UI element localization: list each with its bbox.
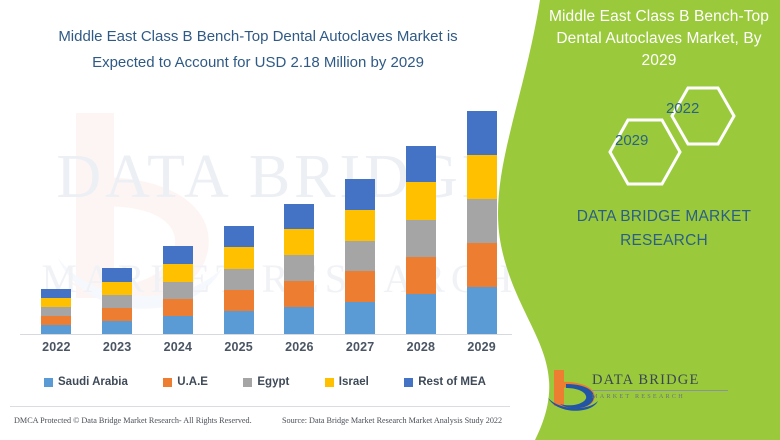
hexagon-2029-outline bbox=[610, 120, 680, 184]
footer-copyright: DMCA Protected © Data Bridge Market Rese… bbox=[14, 416, 252, 425]
stacked-bar bbox=[102, 268, 132, 334]
legend-label: Rest of MEA bbox=[418, 376, 486, 388]
legend-label: Israel bbox=[339, 376, 369, 388]
legend-swatch bbox=[163, 378, 172, 387]
bar-segment bbox=[41, 316, 71, 325]
panel-title: Middle East Class B Bench-Top Dental Aut… bbox=[545, 6, 773, 72]
bar-segment bbox=[41, 289, 71, 298]
bar-segment bbox=[467, 243, 497, 287]
x-axis-tick-label: 2028 bbox=[392, 340, 450, 362]
legend-item[interactable]: Egypt bbox=[243, 376, 289, 388]
logo-text: DATA BRIDGE MARKET RESEARCH bbox=[592, 372, 742, 400]
bar-segment bbox=[102, 321, 132, 334]
logo-divider bbox=[592, 390, 728, 391]
x-axis-tick-label: 2023 bbox=[88, 340, 146, 362]
page-title: Middle East Class B Bench-Top Dental Aut… bbox=[28, 24, 488, 76]
bar-segment bbox=[163, 299, 193, 316]
legend-item[interactable]: Israel bbox=[325, 376, 369, 388]
bar-segment bbox=[467, 199, 497, 243]
bar-segment bbox=[102, 268, 132, 282]
footer-source: Source: Data Bridge Market Research Mark… bbox=[282, 416, 502, 425]
bar-segment bbox=[345, 210, 375, 241]
bar-segment bbox=[163, 316, 193, 334]
bar-chart-plot bbox=[26, 96, 512, 334]
legend-item[interactable]: Saudi Arabia bbox=[44, 376, 128, 388]
bar-segment bbox=[467, 287, 497, 334]
legend-label: U.A.E bbox=[177, 376, 208, 388]
stacked-bar bbox=[224, 226, 254, 334]
logo-tagline: MARKET RESEARCH bbox=[592, 393, 742, 400]
bar-segment bbox=[102, 282, 132, 295]
stacked-bar bbox=[284, 204, 314, 334]
bar-segment bbox=[284, 255, 314, 281]
logo-name: DATA BRIDGE bbox=[592, 372, 742, 389]
bar-segment bbox=[284, 281, 314, 307]
bar-column bbox=[88, 96, 146, 334]
stacked-bar bbox=[41, 289, 71, 334]
bar-column bbox=[270, 96, 328, 334]
bar-segment bbox=[345, 271, 375, 302]
stacked-bar bbox=[345, 179, 375, 334]
bar-segment bbox=[406, 294, 436, 334]
bar-segment bbox=[41, 307, 71, 316]
bar-segment bbox=[41, 325, 71, 334]
bar-segment bbox=[224, 290, 254, 311]
legend-label: Saudi Arabia bbox=[58, 376, 128, 388]
bar-column bbox=[27, 96, 85, 334]
bar-column bbox=[331, 96, 389, 334]
stacked-bar bbox=[163, 246, 193, 334]
legend-swatch bbox=[404, 378, 413, 387]
bar-column bbox=[210, 96, 268, 334]
legend-swatch bbox=[325, 378, 334, 387]
infographic-canvas: DATA BRIDGE MARKET RESEARCH Middle East … bbox=[0, 0, 780, 440]
bar-segment bbox=[224, 226, 254, 247]
bar-segment bbox=[224, 247, 254, 269]
bar-segment bbox=[406, 146, 436, 182]
bar-segment bbox=[345, 179, 375, 210]
bar-segment bbox=[345, 302, 375, 334]
bar-segment bbox=[284, 229, 314, 255]
x-axis-tick-label: 2029 bbox=[453, 340, 511, 362]
stacked-bar bbox=[467, 111, 497, 334]
bar-segment bbox=[467, 111, 497, 155]
bar-segment bbox=[284, 204, 314, 229]
legend-item[interactable]: Rest of MEA bbox=[404, 376, 486, 388]
bar-segment bbox=[102, 295, 132, 308]
bar-column bbox=[149, 96, 207, 334]
hexagon-group: 2029 2022 bbox=[588, 80, 758, 200]
bar-segment bbox=[406, 220, 436, 257]
legend-label: Egypt bbox=[257, 376, 289, 388]
hexagon-label-2022: 2022 bbox=[666, 100, 699, 117]
bar-segment bbox=[102, 308, 132, 321]
hexagon-label-2029: 2029 bbox=[615, 132, 648, 149]
bar-segment bbox=[163, 264, 193, 282]
bar-segment bbox=[406, 182, 436, 220]
legend-item[interactable]: U.A.E bbox=[163, 376, 208, 388]
bar-segment bbox=[284, 307, 314, 334]
chart-legend: Saudi ArabiaU.A.EEgyptIsraelRest of MEA bbox=[30, 372, 500, 392]
x-axis-line bbox=[20, 334, 512, 335]
bar-segment bbox=[163, 282, 193, 299]
bar-column bbox=[453, 96, 511, 334]
hexagon-shapes bbox=[588, 80, 758, 200]
x-axis-tick-label: 2027 bbox=[331, 340, 389, 362]
bar-segment bbox=[41, 298, 71, 307]
bar-column bbox=[392, 96, 450, 334]
footer: DMCA Protected © Data Bridge Market Rese… bbox=[0, 414, 520, 434]
legend-swatch bbox=[243, 378, 252, 387]
footer-divider bbox=[10, 406, 510, 407]
stacked-bar bbox=[406, 146, 436, 334]
x-axis-labels: 20222023202420252026202720282029 bbox=[26, 340, 512, 362]
bar-segment bbox=[224, 269, 254, 290]
legend-swatch bbox=[44, 378, 53, 387]
x-axis-tick-label: 2024 bbox=[149, 340, 207, 362]
bar-segment bbox=[163, 246, 193, 264]
bar-segment bbox=[345, 241, 375, 271]
x-axis-tick-label: 2025 bbox=[210, 340, 268, 362]
x-axis-tick-label: 2026 bbox=[270, 340, 328, 362]
panel-brand: DATA BRIDGE MARKET RESEARCH bbox=[566, 205, 762, 253]
x-axis-tick-label: 2022 bbox=[27, 340, 85, 362]
bar-segment bbox=[467, 155, 497, 199]
bar-segment bbox=[406, 257, 436, 294]
bar-segment bbox=[224, 311, 254, 334]
